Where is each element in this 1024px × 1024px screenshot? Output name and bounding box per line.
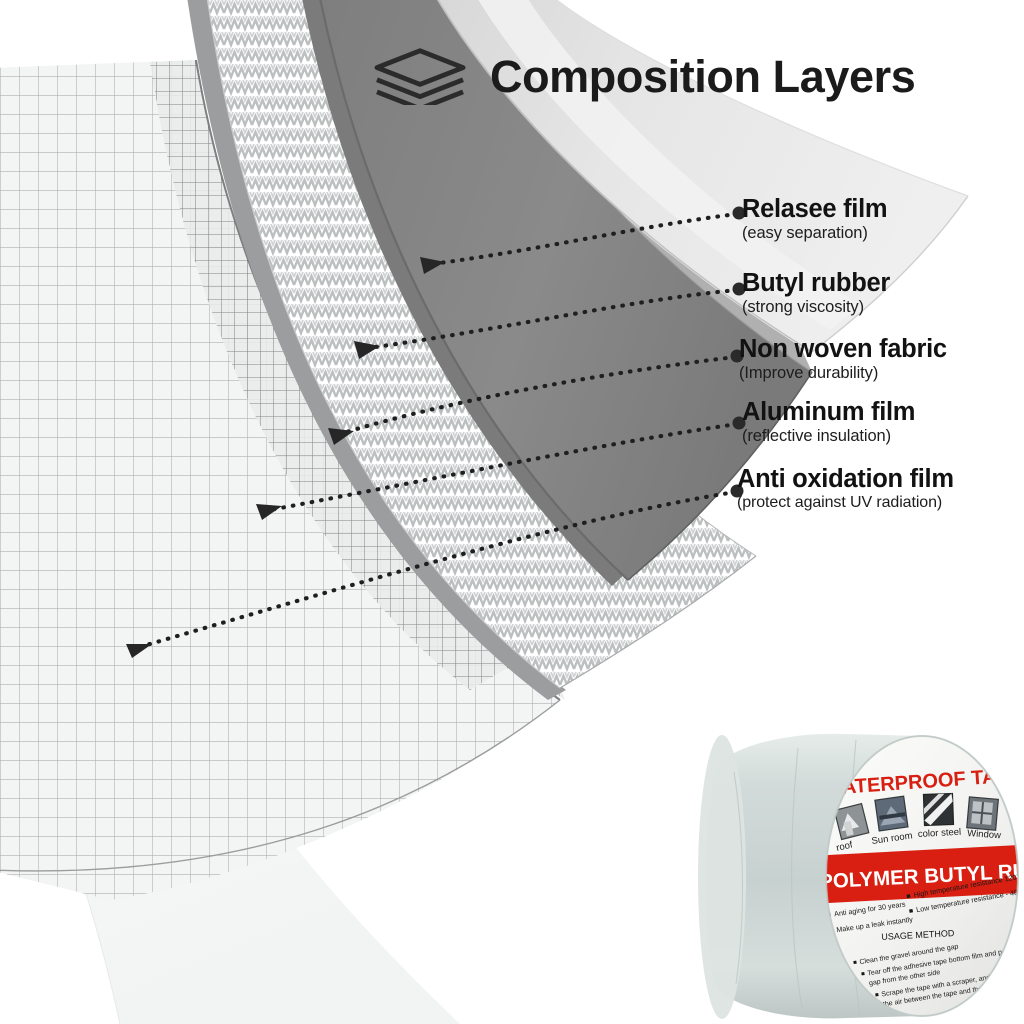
callout-title: Aluminum film xyxy=(742,399,915,425)
tape-roll-product-image: WATERPROOF TAPE xyxy=(686,728,1024,1024)
callout-title: Non woven fabric xyxy=(739,336,947,362)
callout-note: (easy separation) xyxy=(742,225,887,242)
callout-butyl-rubber: Butyl rubber (strong viscosity) xyxy=(742,270,890,316)
caption-color-steel: color steel xyxy=(918,827,962,840)
callout-aluminum-film: Aluminum film (reflective insulation) xyxy=(742,399,915,445)
infographic-canvas: Composition Layers Relasee film (easy se… xyxy=(0,0,1024,1024)
roll-back-cap xyxy=(698,735,746,1019)
callout-relasee-film: Relasee film (easy separation) xyxy=(742,196,887,242)
callout-non-woven-fabric: Non woven fabric (Improve durability) xyxy=(739,336,947,382)
page-header: Composition Layers xyxy=(372,40,1012,112)
callout-title: Relasee film xyxy=(742,196,887,222)
callout-note: (protect against UV radiation) xyxy=(737,495,954,512)
callout-note: (reflective insulation) xyxy=(742,428,915,445)
callout-title: Butyl rubber xyxy=(742,270,890,296)
callout-anti-oxidation-film: Anti oxidation film (protect against UV … xyxy=(737,466,954,512)
callout-note: (strong viscosity) xyxy=(742,299,890,316)
callout-note: (Improve durability) xyxy=(739,365,947,382)
page-title: Composition Layers xyxy=(490,54,915,99)
layers-stack-icon xyxy=(372,47,468,105)
callout-title: Anti oxidation film xyxy=(737,466,954,492)
